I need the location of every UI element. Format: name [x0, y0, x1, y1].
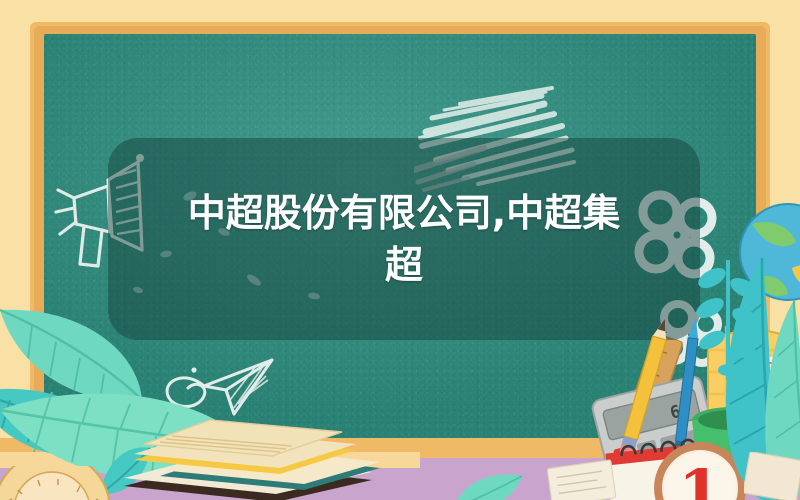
- protractor: [0, 466, 114, 500]
- small-leaf-bottom-center: [448, 468, 528, 500]
- cover-image-canvas: 中超股份有限公司,中超集 超: [0, 0, 800, 500]
- headline-line-2: 超: [385, 239, 423, 291]
- stacked-books: [104, 416, 404, 500]
- paper-scrap-right: [744, 452, 800, 500]
- leaf-sprig-top-right: [604, 26, 614, 36]
- leaf-sprig-board-right: [694, 256, 764, 386]
- headline-line-1: 中超股份有限公司,中超集: [188, 187, 620, 239]
